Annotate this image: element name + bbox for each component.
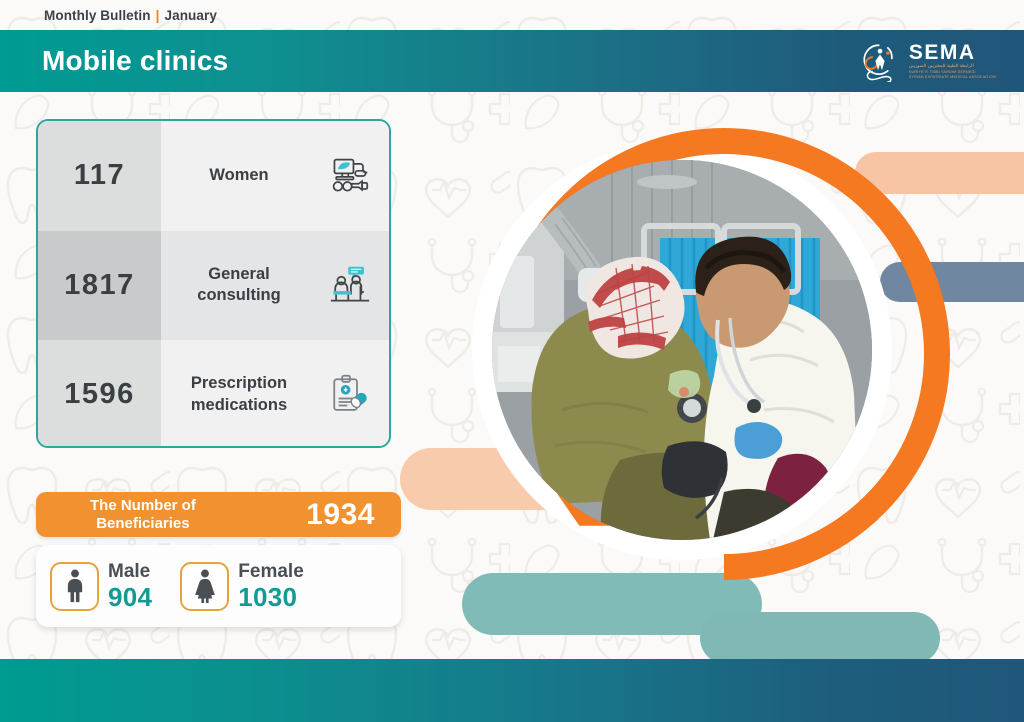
beneficiaries-label: The Number ofBeneficiaries	[90, 497, 196, 532]
gender-label: Female	[238, 562, 303, 581]
gender-value: 904	[108, 584, 152, 610]
logo-arabic-text: الرابطة الطبية للمغتربين السوريين	[909, 63, 974, 70]
logo-wordmark: SEMA	[909, 42, 976, 63]
stat-label-cell: Women	[161, 121, 311, 231]
bulletin-label: Monthly Bulletin	[44, 8, 151, 23]
bulletin-month: January	[164, 8, 216, 23]
beneficiaries-value: 1934	[306, 498, 375, 532]
table-row: 1596 Prescriptionmedications	[38, 340, 389, 448]
stat-value: 1596	[38, 340, 161, 448]
beneficiaries-banner: The Number ofBeneficiaries 1934	[36, 492, 401, 537]
clinic-photo	[492, 160, 872, 540]
gender-item-female: Female 1030	[180, 562, 303, 611]
stat-icon-cell	[311, 121, 389, 231]
sema-logo: SEMA الرابطة الطبية للمغتربين السوريين S…	[859, 40, 996, 82]
decor-capsule-teal-bottom-right	[700, 612, 940, 664]
logo-english-text: SYRIAN EXPATRIATE MEDICAL ASSOCIATION	[909, 75, 996, 80]
breadcrumb-separator: |	[156, 8, 160, 23]
ultrasound-machine-icon	[329, 157, 371, 195]
stat-value: 1817	[38, 231, 161, 341]
stat-value: 117	[38, 121, 161, 231]
stat-icon-cell	[311, 340, 389, 448]
female-icon-box	[180, 562, 229, 611]
stat-label: Prescriptionmedications	[191, 373, 287, 417]
male-figure-icon	[63, 569, 87, 603]
page-footer	[0, 659, 1024, 722]
page-header: Mobile clinics SEMA الرابطة الطبية للمغت…	[0, 30, 1024, 92]
stat-label-cell: Prescriptionmedications	[161, 340, 311, 448]
sema-logo-mark-icon	[859, 40, 901, 82]
gender-item-male: Male 904	[50, 562, 152, 611]
gender-breakdown-card: Male 904 Female 1030	[36, 545, 401, 627]
stat-label: Women	[209, 165, 268, 187]
prescription-clipboard-pill-icon	[330, 374, 370, 416]
photo-composition	[470, 118, 952, 610]
stat-label: Generalconsulting	[197, 264, 280, 308]
doctor-consultation-icon	[329, 265, 371, 305]
table-row: 1817 Generalconsulting	[38, 231, 389, 341]
breadcrumb: Monthly Bulletin|January	[44, 8, 217, 23]
female-figure-icon	[193, 569, 217, 603]
stat-icon-cell	[311, 231, 389, 341]
statistics-table: 117 Women 1817	[36, 119, 391, 448]
male-icon-box	[50, 562, 99, 611]
gender-value: 1030	[238, 584, 303, 610]
stat-label-cell: Generalconsulting	[161, 231, 311, 341]
table-row: 117 Women	[38, 121, 389, 231]
top-subtitle-bar: Monthly Bulletin|January	[0, 0, 1024, 30]
page-title: Mobile clinics	[42, 45, 228, 77]
gender-label: Male	[108, 562, 152, 581]
bulletin-page: Monthly Bulletin|January Mobile clinics …	[0, 0, 1024, 722]
